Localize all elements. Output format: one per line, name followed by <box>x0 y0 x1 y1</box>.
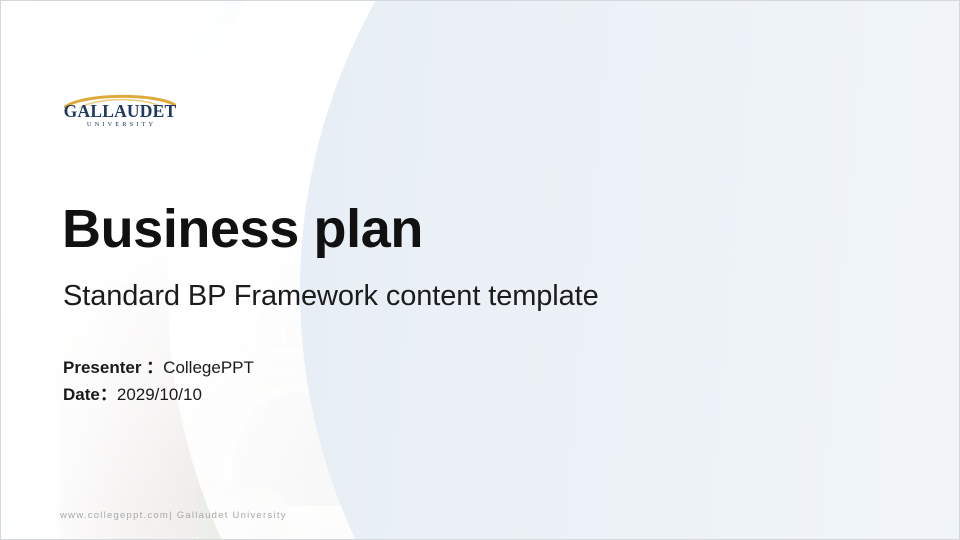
slide-subtitle: Standard BP Framework content template <box>63 280 599 312</box>
slide-title: Business plan <box>62 200 423 258</box>
date-value: 2029/10/10 <box>117 385 202 404</box>
presenter-label: Presenter ： <box>63 358 163 377</box>
slide-metadata: Presenter ：CollegePPT Date：2029/10/10 <box>63 354 254 408</box>
presenter-value: CollegePPT <box>163 358 254 377</box>
date-label: Date： <box>63 385 117 404</box>
slide-footer: www.collegeppt.com| Gallaudet University <box>60 511 287 521</box>
photo-left-glow <box>0 0 960 540</box>
background-photo <box>0 0 960 540</box>
logo-wordmark: GALLAUDET <box>58 103 182 121</box>
presentation-slide: GALLAUDET UNIVERSITY Business plan Stand… <box>0 0 960 540</box>
logo-subtitle: UNIVERSITY <box>58 122 182 128</box>
date-row: Date：2029/10/10 <box>63 381 254 408</box>
gallaudet-university-logo: GALLAUDET UNIVERSITY <box>58 92 182 128</box>
presenter-row: Presenter ：CollegePPT <box>63 354 254 381</box>
